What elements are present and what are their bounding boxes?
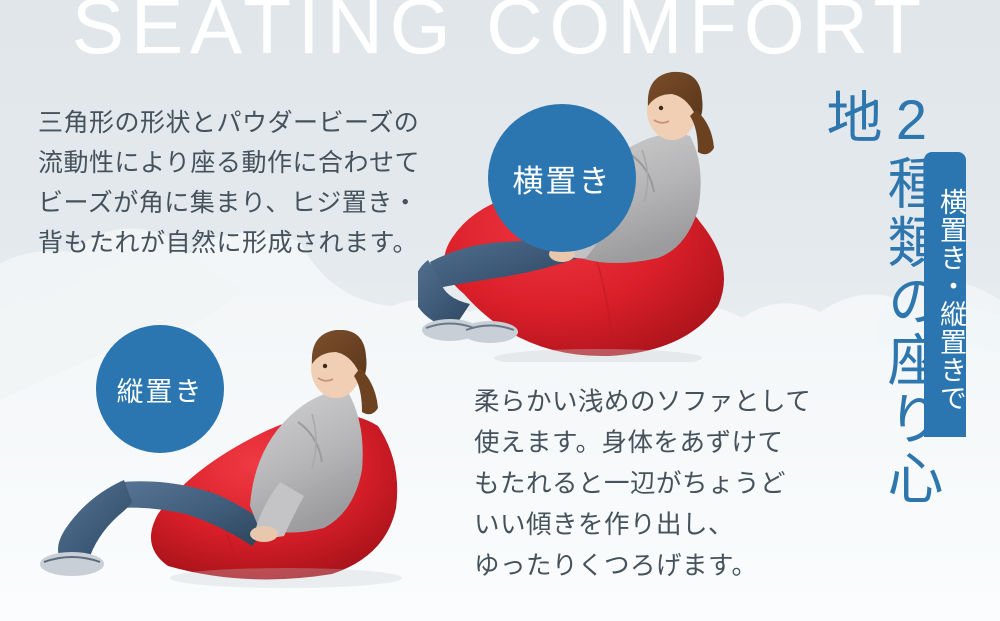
description-bottom-right: 柔らかい浅めのソファとして 使えます。身体をあずけて もたれると一辺がちょうど … bbox=[474, 382, 811, 587]
braid-2 bbox=[354, 368, 378, 414]
para-line: 使えます。身体をあずけて bbox=[474, 423, 811, 464]
promo-banner: SEATING COMFORT bbox=[0, 0, 1000, 621]
vertical-ribbon-tag: 横置き・縦置きで bbox=[924, 152, 966, 437]
shoe-2 bbox=[40, 552, 104, 576]
para-line: もたれると一辺がちょうど bbox=[474, 464, 811, 505]
shoe-right bbox=[462, 321, 518, 343]
para-line: ゆったりくつろげます。 bbox=[474, 546, 811, 587]
eye bbox=[659, 106, 663, 110]
jeans-lower-2 bbox=[58, 480, 132, 562]
para-line: ビーズが角に集まり、ヒジ置き・ bbox=[38, 183, 420, 223]
para-line: 流動性により座る動作に合わせて bbox=[38, 143, 420, 183]
badge-vertical-placement: 縦置き bbox=[96, 325, 224, 453]
para-line: 背もたれが自然に形成されます。 bbox=[38, 223, 420, 263]
eye-2 bbox=[323, 364, 327, 368]
hand-2 bbox=[250, 526, 278, 542]
photo-vertical-beanbag bbox=[36, 330, 426, 598]
para-line: いい傾きを作り出し、 bbox=[474, 505, 811, 546]
description-top-left: 三角形の形状とパウダービーズの 流動性により座る動作に合わせて ビーズが角に集ま… bbox=[38, 103, 420, 263]
para-line: 柔らかい浅めのソファとして bbox=[474, 382, 811, 423]
badge-horizontal-placement: 横置き bbox=[488, 104, 636, 252]
para-line: 三角形の形状とパウダービーズの bbox=[38, 103, 420, 143]
